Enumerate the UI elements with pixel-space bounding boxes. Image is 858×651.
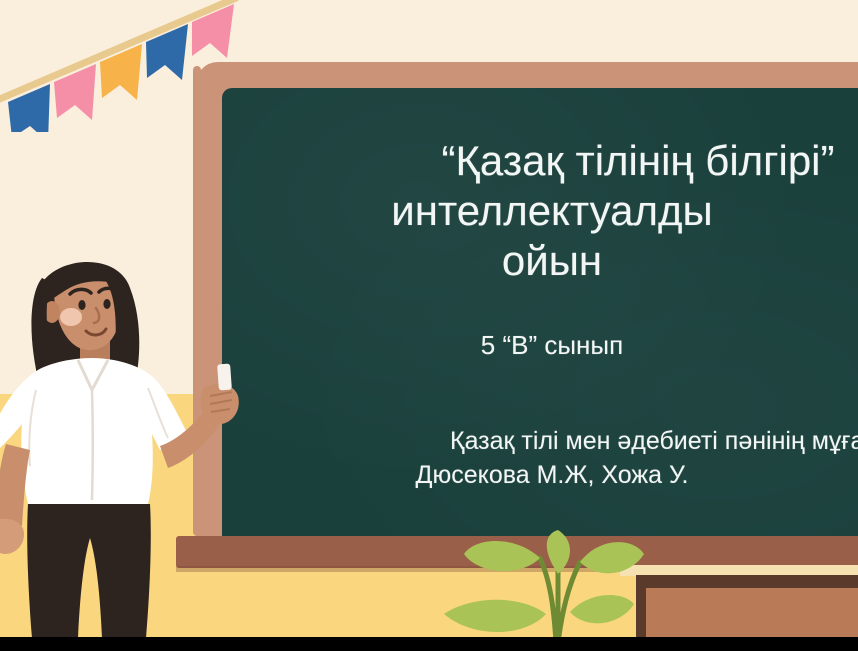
presentation-slide: “Қазақ тілінің білгірі” интеллектуалды о… [0,0,858,651]
slide-title-line-2: интеллектуалды [222,186,858,236]
slide-credit-line-1: Қазақ тілі мен әдебиеті пәнінің мұғалімд… [450,424,858,458]
chalk-piece [217,364,232,391]
teacher-blouse [0,358,188,504]
teacher-placket [92,390,93,500]
slide-subtitle-class: 5 “В” сынып [222,286,858,362]
slide-credit: Қазақ тілі мен әдебиеті пәнінің мұғалімд… [222,362,858,492]
chalkboard-text-block: “Қазақ тілінің білгірі” интеллектуалды о… [222,88,858,492]
slide-title-line-3: ойын [222,236,858,286]
teacher-trousers [27,504,151,638]
teacher-blush [60,308,82,326]
slide-credit-line-2: Дюсекова М.Ж, Хожа У. [222,458,858,492]
bottom-black-bar [0,637,858,651]
plant-decoration [408,528,708,643]
teacher-illustration [0,238,260,638]
slide-title: “Қазақ тілінің білгірі” интеллектуалды о… [222,88,858,286]
slide-title-line-1: “Қазақ тілінің білгірі” [394,136,858,186]
teacher-eye-right [103,299,110,309]
teacher-eye-left [78,300,85,310]
plant-leaf [444,530,644,632]
